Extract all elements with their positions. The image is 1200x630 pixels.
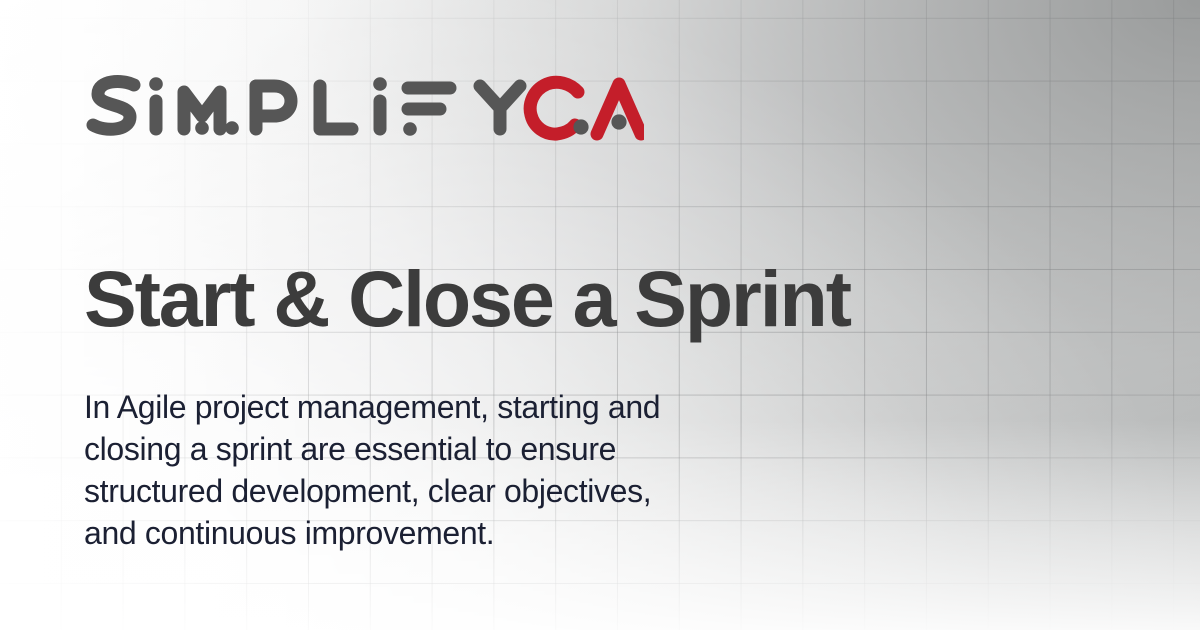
hero-description: In Agile project management, starting an… <box>84 386 844 554</box>
hero-description-line: and continuous improvement. <box>84 512 844 554</box>
page-title: Start & Close a Sprint <box>84 253 850 345</box>
brand-logo[interactable] <box>84 72 644 146</box>
hero-description-line: closing a sprint are essential to ensure <box>84 428 844 470</box>
hero-description-line: structured development, clear objectives… <box>84 470 844 512</box>
social-card-canvas: Start & Close a Sprint In Agile project … <box>0 0 1200 630</box>
hero-description-line: In Agile project management, starting an… <box>84 386 844 428</box>
card-content: Start & Close a Sprint In Agile project … <box>0 0 1200 630</box>
brand-logo-icon <box>84 72 644 146</box>
